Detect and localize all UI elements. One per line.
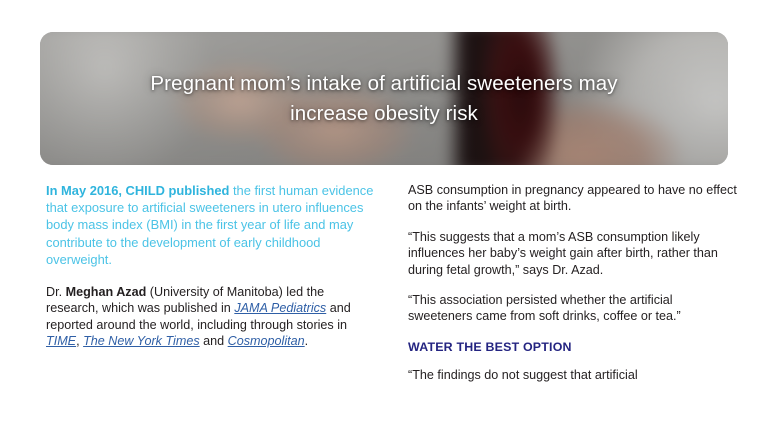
hero-banner: Pregnant mom’s intake of artificial swee…: [40, 32, 728, 165]
right-paragraph-4: “The findings do not suggest that artifi…: [408, 367, 738, 383]
link-new-york-times[interactable]: The New York Times: [83, 334, 200, 348]
link-jama-pediatrics[interactable]: JAMA Pediatrics: [234, 301, 326, 315]
right-paragraph-2: “This suggests that a mom’s ASB consumpt…: [408, 229, 738, 278]
right-paragraph-1: ASB consumption in pregnancy appeared to…: [408, 182, 738, 215]
paragraph-part-1: Dr.: [46, 285, 66, 299]
research-credit-paragraph: Dr. Meghan Azad (University of Manitoba)…: [46, 284, 376, 350]
article-columns: In May 2016, CHILD published the first h…: [0, 182, 768, 432]
paragraph-part-6: .: [305, 334, 309, 348]
left-column: In May 2016, CHILD published the first h…: [46, 182, 376, 364]
right-column: ASB consumption in pregnancy appeared to…: [408, 182, 738, 397]
section-heading-water-best-option: WATER THE BEST OPTION: [408, 339, 738, 355]
link-cosmopolitan[interactable]: Cosmopolitan: [228, 334, 305, 348]
lede-paragraph: In May 2016, CHILD published the first h…: [46, 182, 376, 268]
link-time[interactable]: TIME: [46, 334, 76, 348]
right-paragraph-3: “This association persisted whether the …: [408, 292, 738, 325]
paragraph-part-5: and: [200, 334, 228, 348]
lede-bold-prefix: In May 2016, CHILD published: [46, 183, 229, 198]
hero-title: Pregnant mom’s intake of artificial swee…: [40, 69, 728, 129]
researcher-name: Meghan Azad: [66, 285, 147, 299]
